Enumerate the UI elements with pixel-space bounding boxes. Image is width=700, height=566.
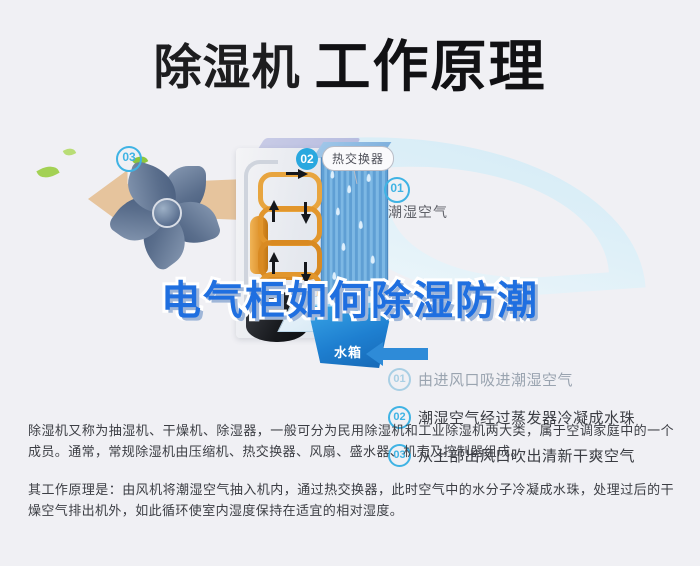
body-copy: 除湿机又称为抽湿机、干燥机、除湿器，一般可分为民用除湿机和工业除湿机两大类，属于… — [28, 420, 674, 538]
water-droplet — [371, 255, 375, 263]
flow-arrow-up-icon — [269, 200, 279, 210]
dehumidifier-diagram: 干燥空气 — [0, 120, 700, 395]
water-droplet — [331, 171, 335, 179]
page-title: 除湿机工作原理 — [0, 22, 700, 103]
water-droplet — [359, 221, 363, 229]
air-inlet-arrow-icon — [382, 348, 428, 360]
badge-01: 01 — [384, 177, 410, 203]
water-droplet — [347, 185, 351, 193]
list-item: 01 由进风口吸进潮湿空气 — [388, 360, 688, 398]
badge-03: 03 — [116, 146, 142, 172]
title-part-one: 除湿机 — [153, 42, 300, 95]
legend-badge-01: 01 — [388, 368, 411, 391]
badge-02: 02 — [296, 148, 318, 170]
title-part-two: 工作原理 — [315, 35, 547, 98]
flow-arrow-stem — [304, 202, 307, 214]
legend-text-01: 由进风口吸进潮湿空气 — [418, 369, 573, 390]
overlay-headline: 电气柜如何除湿防潮 — [0, 268, 700, 326]
water-droplet — [342, 243, 346, 251]
water-tank-label: 水箱 — [334, 342, 362, 361]
paragraph-one: 除湿机又称为抽湿机、干燥机、除湿器，一般可分为民用除湿机和工业除湿机两大类，属于… — [28, 420, 674, 462]
flow-arrow-stem — [286, 172, 298, 175]
water-droplet — [367, 174, 371, 182]
flow-arrow-stem — [272, 210, 275, 222]
flow-arrow-up-icon — [269, 252, 279, 262]
paragraph-two: 其工作原理是：由风机将潮湿空气抽入机内，通过热交换器，此时空气中的水分子冷凝成水… — [28, 479, 674, 521]
fan-hub — [152, 198, 182, 228]
leaf-icon — [36, 162, 59, 182]
flow-arrow-down-icon — [301, 214, 311, 224]
flow-arrow-right-icon — [298, 169, 308, 179]
water-droplet — [336, 207, 340, 215]
moist-air-label: 潮湿空气 — [388, 202, 448, 222]
leaf-icon — [63, 146, 76, 158]
infographic-page: 除湿机工作原理 干燥空气 — [0, 0, 700, 566]
heat-exchanger-callout: 热交换器 — [322, 146, 394, 171]
